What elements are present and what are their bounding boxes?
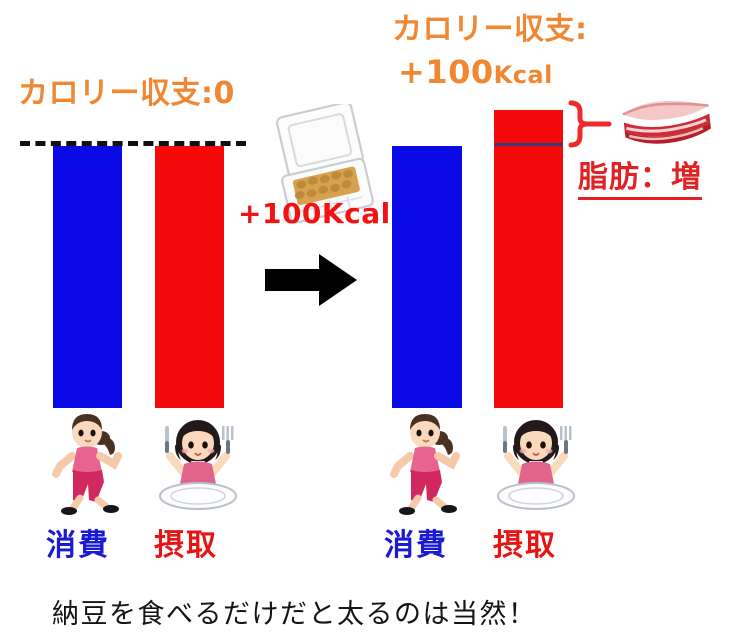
bacon-fat-icon	[614, 94, 720, 150]
right-balance-headline-line1: カロリー収支:	[392, 14, 588, 46]
axis-label-left-burn: 消費	[46, 520, 110, 564]
knife-icon	[503, 426, 507, 453]
bar-right-intake-surplus	[494, 110, 563, 146]
eating-girl-icon-right	[488, 412, 584, 516]
fat-increase-label: 脂肪：増	[578, 152, 702, 200]
bar-right-burn	[392, 146, 462, 408]
right-balance-value: +100	[398, 53, 494, 91]
infographic-canvas: カロリー収支:0	[0, 0, 733, 641]
axis-label-right-intake: 摂取	[493, 520, 557, 564]
bar-right-intake-base	[494, 146, 563, 408]
right-balance-unit: Kcal	[494, 61, 553, 89]
bar-left-intake	[155, 146, 224, 408]
axis-label-right-burn: 消費	[384, 520, 448, 564]
jogging-woman-icon-right	[386, 412, 464, 516]
bottom-caption: 納豆を食べるだけだと太るのは当然！	[52, 592, 537, 631]
eating-girl-icon-left	[150, 412, 246, 516]
curly-brace-icon	[567, 100, 629, 153]
axis-label-left-intake: 摂取	[154, 520, 218, 564]
knife-icon	[165, 426, 169, 453]
fork-icon	[222, 426, 234, 454]
fork-icon	[560, 426, 572, 454]
right-balance-headline-line2: +100Kcal	[398, 56, 553, 90]
bar-left-burn	[53, 146, 122, 408]
arrow-right-icon	[263, 252, 359, 313]
left-balance-headline: カロリー収支:0	[18, 78, 235, 110]
jogging-woman-icon-left	[48, 412, 126, 516]
natto-kcal-label: +100Kcal	[238, 197, 391, 230]
